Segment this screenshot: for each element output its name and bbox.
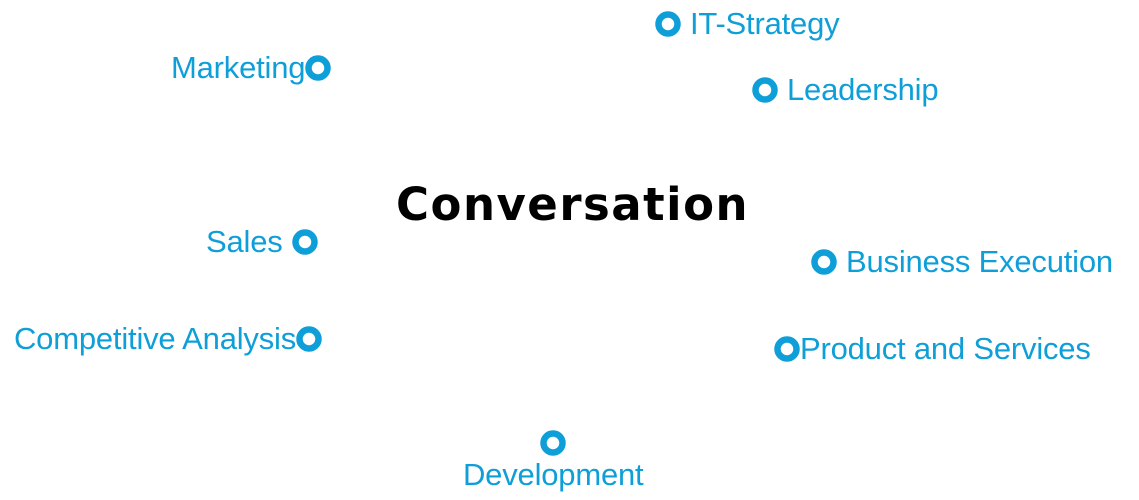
topic-node-label: Leadership (787, 74, 938, 105)
ring-icon (774, 336, 800, 362)
ring-icon (296, 326, 322, 352)
topic-node-product-and-services[interactable]: Product and Services (774, 333, 1091, 364)
topic-node-label: Development (463, 459, 643, 490)
topic-node-competitive-analysis[interactable]: Competitive Analysis (14, 323, 322, 354)
topic-map-canvas: Conversation IT-StrategyMarketingLeaders… (0, 0, 1139, 500)
ring-icon (292, 229, 318, 255)
topic-node-label: Business Execution (846, 246, 1113, 277)
topic-node-sales[interactable]: Sales (206, 226, 318, 257)
topic-node-business-execution[interactable]: Business Execution (811, 246, 1113, 277)
topic-node-it-strategy[interactable]: IT-Strategy (655, 8, 839, 39)
topic-node-label: Product and Services (800, 333, 1091, 364)
ring-icon (811, 249, 837, 275)
center-title: Conversation (396, 182, 749, 227)
ring-icon (540, 430, 566, 456)
topic-node-leadership[interactable]: Leadership (752, 74, 938, 105)
topic-node-label: Sales (206, 226, 283, 257)
ring-icon (655, 11, 681, 37)
topic-node-label: IT-Strategy (690, 8, 839, 39)
ring-icon (305, 55, 331, 81)
topic-node-marketing[interactable]: Marketing (171, 52, 331, 83)
topic-node-development[interactable]: Development (463, 430, 643, 490)
ring-icon (752, 77, 778, 103)
topic-node-label: Competitive Analysis (14, 323, 296, 354)
topic-node-label: Marketing (171, 52, 305, 83)
